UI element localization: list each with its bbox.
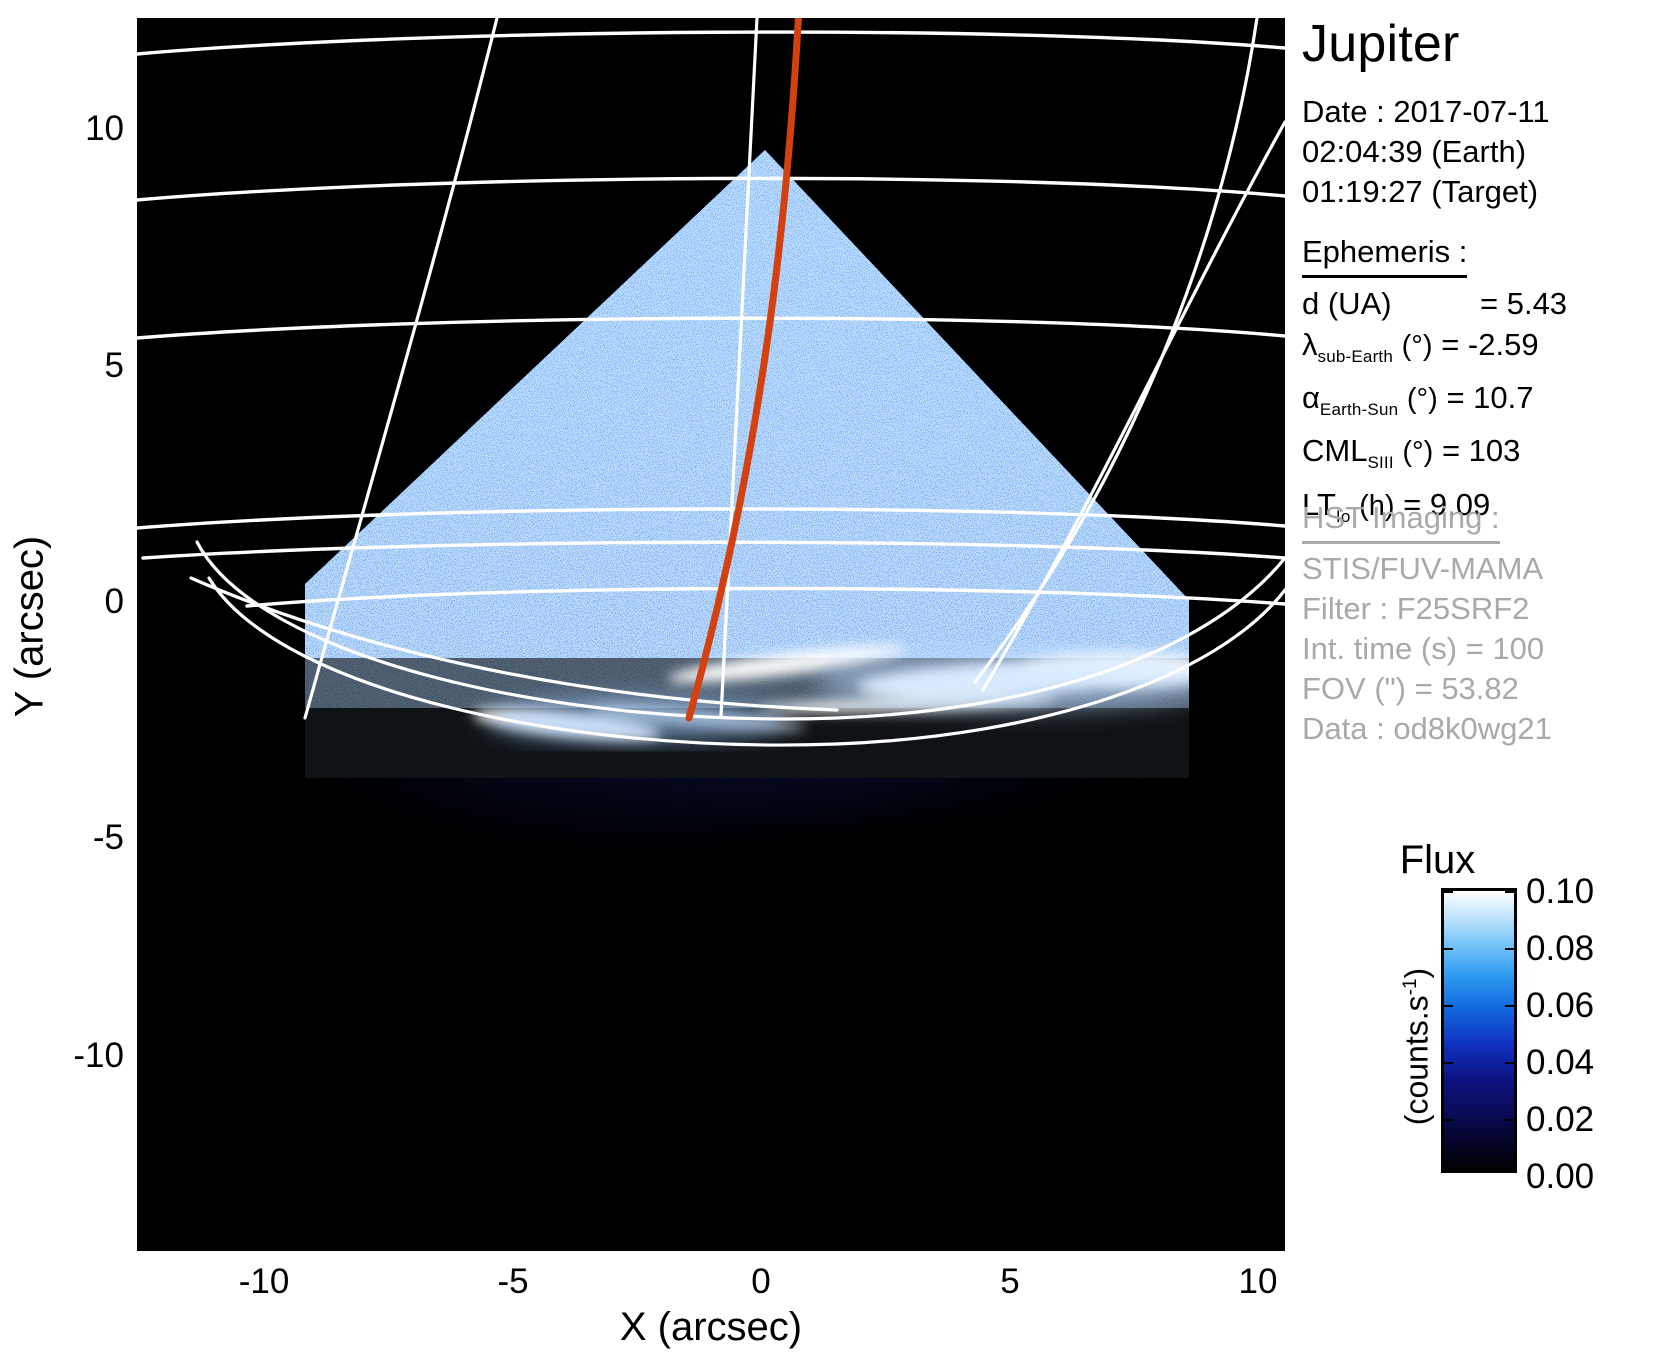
hst-imaging-block: HST Imaging : STIS/FUV-MAMA Filter : F25…: [1302, 498, 1552, 749]
colorbar-unit-tail: ): [1399, 968, 1435, 979]
colorbar-unit-label: (counts.s-1): [1399, 922, 1436, 1172]
x-tick-label: -5: [453, 1264, 573, 1299]
ephemeris-row-phase-angle: αEarth-Sun (°) = 10.7: [1302, 377, 1567, 430]
ephemeris-block: Ephemeris : d (UA)= 5.43 λsub-Earth (°) …: [1302, 232, 1567, 537]
ephemeris-unit: (°): [1402, 330, 1433, 362]
ephemeris-subscript: Earth-Sun: [1320, 400, 1398, 419]
ephemeris-value: = 5.43: [1480, 286, 1567, 321]
ephemeris-row-distance: d (UA)= 5.43: [1302, 283, 1567, 324]
colorbar-unit-text: (counts.s: [1399, 995, 1435, 1125]
ephemeris-subscript: sub-Earth: [1318, 347, 1394, 366]
planet-graticule: [137, 18, 1285, 1251]
ephemeris-value: = 10.7: [1446, 380, 1533, 415]
flux-colorbar-group: Flux 0.10 0.08 0.06 0.04 0.02 0.00 (coun…: [1330, 838, 1660, 1198]
colorbar-title: Flux: [1330, 838, 1545, 883]
colorbar-tick-label: 0.10: [1526, 874, 1594, 909]
x-axis-title: X (arcsec): [0, 1305, 1422, 1350]
y-tick-label: 10: [14, 111, 124, 146]
y-tick-label: 5: [14, 348, 124, 383]
x-tick-label: 0: [701, 1264, 821, 1299]
hst-filter-label: Filter : F25SRF2: [1302, 589, 1552, 629]
y-axis-title: Y (arcsec): [8, 457, 53, 797]
ephemeris-key: λ: [1302, 327, 1318, 362]
ephemeris-key: α: [1302, 380, 1320, 415]
target-time-label: 01:19:27 (Target): [1302, 172, 1550, 212]
colorbar-tick-label: 0.06: [1526, 988, 1594, 1023]
target-title: Jupiter: [1302, 14, 1459, 74]
hst-imaging-heading: HST Imaging :: [1302, 498, 1500, 544]
x-tick-label: -10: [204, 1264, 324, 1299]
date-label: Date : 2017-07-11: [1302, 92, 1550, 132]
ephemeris-key: d (UA): [1302, 283, 1480, 324]
y-tick-label: -5: [14, 820, 124, 855]
earth-time-label: 02:04:39 (Earth): [1302, 132, 1550, 172]
ephemeris-unit: (°): [1402, 436, 1433, 468]
ephemeris-key: CML: [1302, 433, 1367, 468]
x-tick-label: 10: [1198, 1264, 1318, 1299]
colorbar-tick-label: 0.08: [1526, 931, 1594, 966]
x-tick-label: 5: [950, 1264, 1070, 1299]
hst-instrument-label: STIS/FUV-MAMA: [1302, 549, 1552, 589]
colorbar-tick-label: 0.04: [1526, 1045, 1594, 1080]
ephemeris-subscript: SIII: [1367, 454, 1393, 473]
colorbar-tick-label: 0.00: [1526, 1159, 1594, 1194]
colorbar-gradient: [1441, 888, 1517, 1173]
observation-date-block: Date : 2017-07-11 02:04:39 (Earth) 01:19…: [1302, 92, 1550, 212]
image-plot-panel: [137, 18, 1285, 1251]
hst-fov-label: FOV (") = 53.82: [1302, 669, 1552, 709]
colorbar-unit-exponent: -1: [1400, 978, 1421, 995]
hst-integration-time-label: Int. time (s) = 100: [1302, 629, 1552, 669]
ephemeris-row-cml: CMLSIII (°) = 103: [1302, 430, 1567, 483]
ephemeris-heading: Ephemeris :: [1302, 232, 1467, 278]
ephemeris-row-sub-earth-latitude: λsub-Earth (°) = -2.59: [1302, 324, 1567, 377]
ephemeris-value: = -2.59: [1441, 327, 1538, 362]
ephemeris-unit: (°): [1407, 383, 1438, 415]
hst-dataset-label: Data : od8k0wg21: [1302, 709, 1552, 749]
y-tick-label: -10: [14, 1038, 124, 1073]
ephemeris-value: = 103: [1442, 433, 1520, 468]
colorbar-tick-label: 0.02: [1526, 1102, 1594, 1137]
reference-meridian-line: [689, 18, 799, 718]
